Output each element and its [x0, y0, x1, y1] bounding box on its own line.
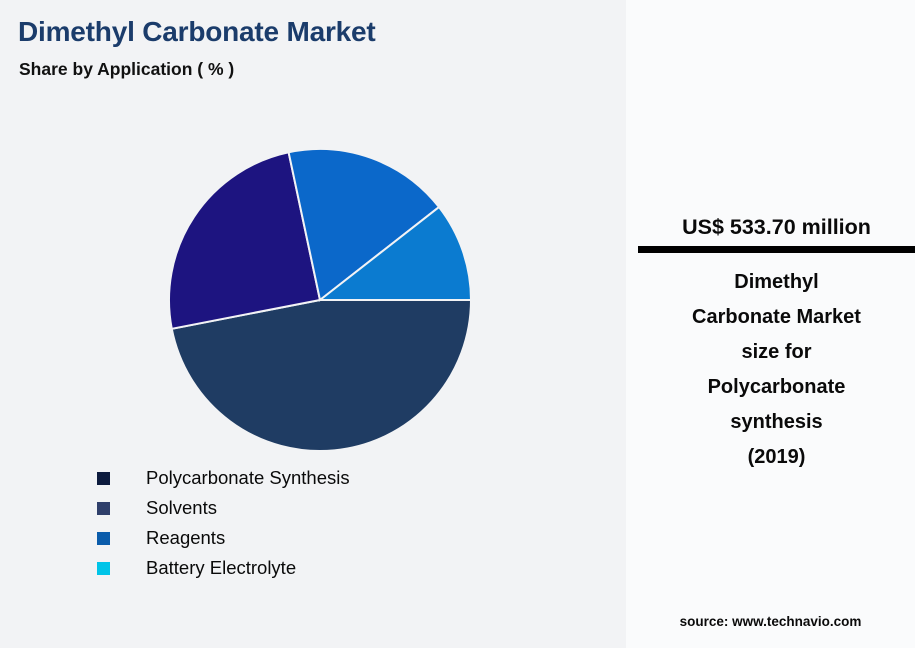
kpi-caption-line: synthesis	[638, 405, 915, 440]
kpi-caption-line: (2019)	[638, 440, 915, 475]
kpi-value: US$ 533.70 million	[638, 212, 915, 242]
pie-slice[interactable]	[172, 300, 471, 451]
legend-label: Solvents	[146, 497, 217, 519]
legend-item[interactable]: Polycarbonate Synthesis	[97, 463, 597, 493]
page-title: Dimethyl Carbonate Market	[18, 16, 376, 48]
legend-label: Battery Electrolyte	[146, 557, 296, 579]
legend-swatch-reagents	[97, 532, 110, 545]
legend-item[interactable]: Battery Electrolyte	[97, 553, 597, 583]
kpi-caption-line: size for	[638, 335, 915, 370]
kpi-panel: US$ 533.70 million DimethylCarbonate Mar…	[626, 0, 915, 648]
legend-swatch-battery-electrolyte	[97, 562, 110, 575]
pie-slice-group	[169, 149, 471, 451]
legend-label: Reagents	[146, 527, 225, 549]
pie-chart-svg	[169, 149, 471, 451]
kpi-divider	[638, 246, 915, 253]
chart-panel: Dimethyl Carbonate Market Share by Appli…	[0, 0, 626, 648]
chart-legend: Polycarbonate Synthesis Solvents Reagent…	[97, 463, 597, 583]
kpi-caption-line: Carbonate Market	[638, 300, 915, 335]
legend-swatch-polycarbonate-synthesis	[97, 472, 110, 485]
legend-swatch-solvents	[97, 502, 110, 515]
pie-chart	[169, 149, 471, 451]
kpi-block: US$ 533.70 million DimethylCarbonate Mar…	[638, 212, 915, 475]
infographic-page: Dimethyl Carbonate Market Share by Appli…	[0, 0, 915, 648]
source-note: source: www.technavio.com	[626, 614, 915, 629]
legend-item[interactable]: Solvents	[97, 493, 597, 523]
chart-subtitle: Share by Application ( % )	[19, 59, 234, 80]
kpi-caption: DimethylCarbonate Marketsize forPolycarb…	[638, 265, 915, 475]
kpi-caption-line: Polycarbonate	[638, 370, 915, 405]
legend-label: Polycarbonate Synthesis	[146, 467, 350, 489]
legend-item[interactable]: Reagents	[97, 523, 597, 553]
kpi-caption-line: Dimethyl	[638, 265, 915, 300]
